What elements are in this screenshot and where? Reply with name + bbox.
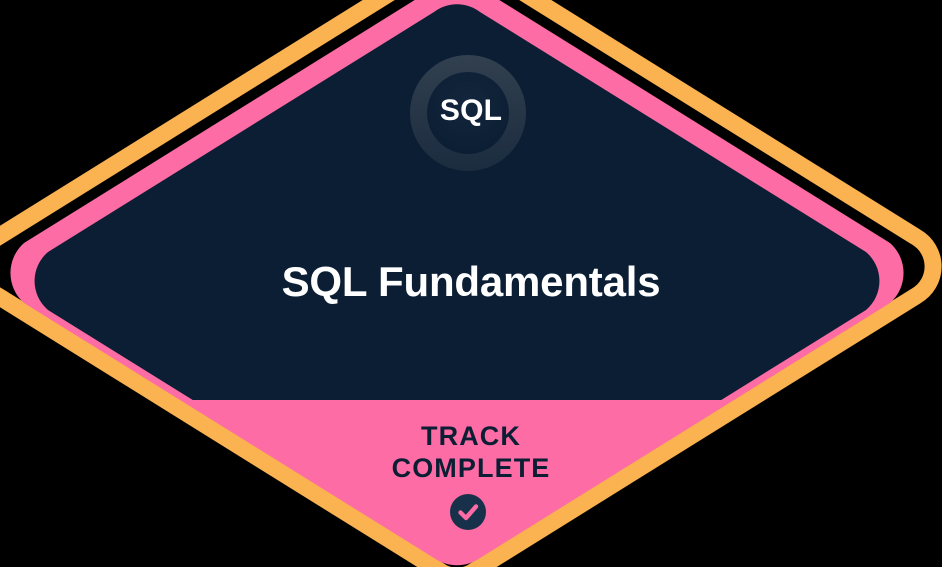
check-circle-icon bbox=[450, 494, 486, 530]
track-completion-badge: SQL SQL Fundamentals TRACK COMPLETE bbox=[0, 0, 942, 567]
abbreviation-ring-icon bbox=[410, 55, 526, 171]
diamond-badge-shape-icon bbox=[0, 0, 942, 567]
